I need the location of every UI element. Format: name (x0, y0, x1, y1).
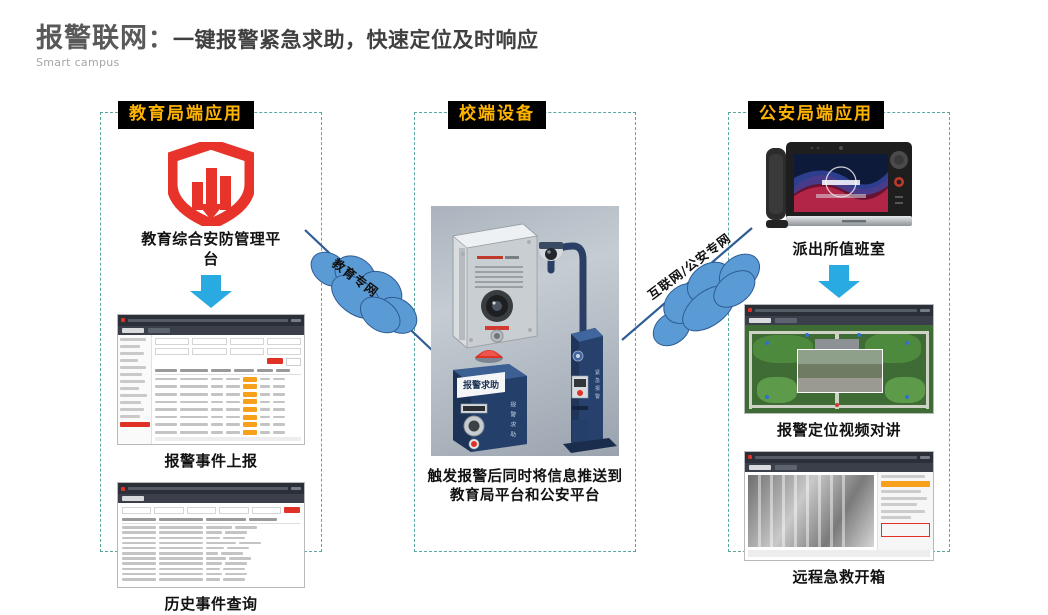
alarm-event-report-screenshot[interactable] (117, 314, 305, 446)
shot-tab (122, 328, 144, 333)
shot-titlebar (118, 483, 304, 494)
shot-titlebar (118, 315, 304, 326)
shot-tab (122, 496, 144, 501)
remote-emergency-box-screenshot[interactable] (744, 451, 934, 561)
section-tag-education-bureau: 教育局端应用 (118, 101, 254, 129)
shot-title-text (128, 319, 288, 322)
shot-tab (749, 465, 771, 470)
shot-titlebar (745, 452, 933, 463)
campus-map-video-intercom-screenshot[interactable] (744, 304, 934, 414)
app-logo-icon (121, 318, 125, 322)
window-controls-icon (920, 456, 930, 459)
svg-text:警: 警 (510, 410, 517, 419)
shot-tab (148, 328, 170, 333)
shot-tabbar (745, 463, 933, 472)
caption-school-description: 触发报警后同时将信息推送到教育局平台和公安平台 (427, 468, 623, 506)
platform-label-education: 教育综合安防管理平台 (136, 230, 286, 270)
section-tag-police-bureau: 公安局端应用 (748, 101, 884, 129)
shot-body (118, 335, 304, 445)
shot-title-text (128, 487, 288, 490)
window-controls-icon (291, 319, 301, 322)
app-logo-icon (121, 487, 125, 491)
pagination-bar[interactable] (155, 437, 301, 441)
cctv-toolbar[interactable] (748, 550, 930, 557)
shield-chart-icon-wrap (100, 142, 322, 226)
caption-remote-emergency-box: 远程急救开箱 (728, 568, 950, 588)
app-logo-icon (748, 308, 752, 312)
shot-titlebar (745, 305, 933, 316)
shot-body (118, 503, 304, 587)
video-intercom-illustration (764, 138, 914, 234)
map-video-inset[interactable] (797, 349, 883, 393)
shot-tabbar (118, 494, 304, 503)
caption-history-event-query: 历史事件查询 (100, 595, 322, 615)
emergency-call-pole-device: 紧 急 报 警 (539, 242, 617, 453)
svg-text:助: 助 (510, 430, 517, 439)
svg-text:报警求助: 报警求助 (463, 379, 499, 391)
cctv-body (745, 472, 933, 550)
svg-text:报: 报 (510, 400, 517, 409)
column-education-bureau: 教育综合安防管理平台 (100, 112, 322, 615)
column-school-equipment: 报警求助 报 警 求 助 (414, 112, 636, 506)
svg-text:紧: 紧 (595, 369, 600, 376)
svg-text:警: 警 (595, 393, 600, 400)
window-controls-icon (920, 309, 930, 312)
alarm-devices-photo: 报警求助 报 警 求 助 (431, 206, 619, 456)
cctv-video-feed[interactable] (748, 475, 874, 547)
alarm-help-box-device: 报警求助 报 警 求 助 (453, 350, 527, 452)
intercom-panel-device (453, 224, 537, 348)
caption-alarm-event-report: 报警事件上报 (100, 452, 322, 472)
shot-tab (749, 318, 771, 323)
arrow-down-icon-police (816, 265, 862, 299)
shot-tab (775, 465, 797, 470)
shot-tabbar (118, 326, 304, 335)
video-intercom-device (764, 138, 914, 234)
reset-button[interactable] (286, 358, 301, 366)
platform-label-police: 派出所值班室 (728, 240, 950, 260)
search-button[interactable] (284, 507, 300, 513)
svg-text:急: 急 (595, 377, 600, 384)
shot-tab (775, 318, 797, 323)
history-event-query-screenshot[interactable] (117, 482, 305, 588)
search-button[interactable] (267, 358, 283, 364)
shot-main (118, 503, 304, 587)
shot-title-text (755, 309, 917, 312)
cctv-info-panel (877, 472, 933, 550)
arrow-down-icon-education (188, 275, 234, 309)
column-police-bureau: 派出所值班室 (728, 112, 950, 587)
window-controls-icon (291, 487, 301, 490)
caption-alarm-location-video-intercom: 报警定位视频对讲 (728, 421, 950, 441)
shot-main (152, 335, 304, 445)
alarm-devices-illustration: 报警求助 报 警 求 助 (431, 206, 619, 456)
shot-sidebar (118, 335, 152, 445)
status-badge (881, 481, 930, 487)
shield-chart-icon (168, 142, 254, 226)
campus-map-canvas[interactable] (745, 325, 933, 413)
open-box-button[interactable] (881, 523, 930, 537)
shot-title-text (755, 456, 917, 459)
shot-tabbar (745, 316, 933, 325)
svg-text:求: 求 (510, 420, 517, 429)
app-logo-icon (748, 455, 752, 459)
svg-text:报: 报 (595, 385, 600, 392)
section-tag-school-equipment: 校端设备 (448, 101, 546, 129)
